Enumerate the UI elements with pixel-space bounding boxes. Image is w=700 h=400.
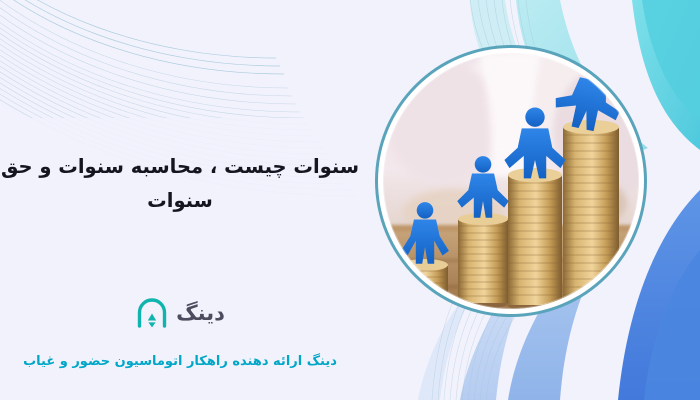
logo-wordmark: دینگ	[176, 303, 225, 324]
brand-logo[interactable]: دینگ	[0, 296, 360, 330]
promotional-banner: سنوات چیست ، محاسبه سنوات و حق سنوات دین…	[0, 0, 700, 400]
ding-arch-pin-logo-icon	[135, 296, 169, 330]
page-title: سنوات چیست ، محاسبه سنوات و حق سنوات	[0, 150, 360, 218]
hero-photo	[383, 53, 639, 309]
title-block: سنوات چیست ، محاسبه سنوات و حق سنوات	[0, 150, 360, 218]
tagline: دینگ ارائه دهنده راهکار اتوماسیون حضور و…	[0, 352, 360, 372]
hero-photo-circle	[378, 48, 644, 314]
